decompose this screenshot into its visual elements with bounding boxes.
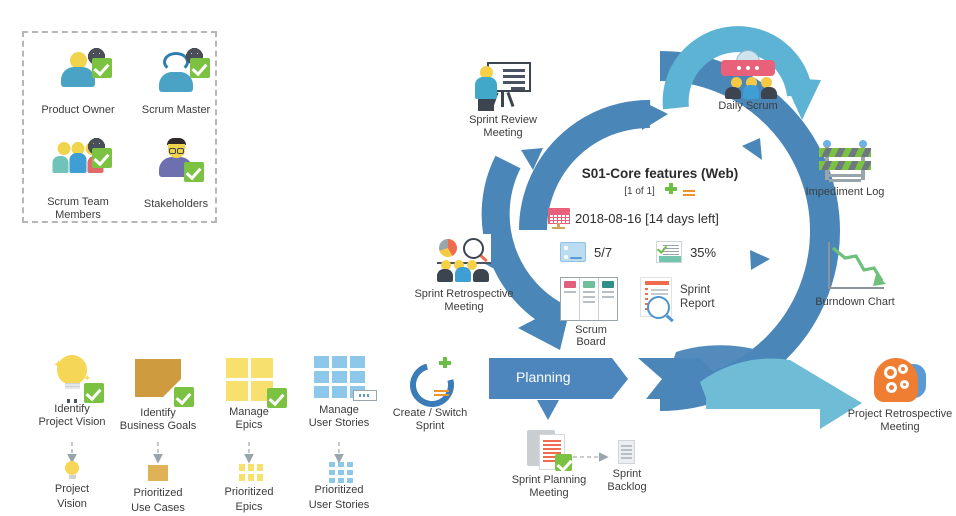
project-retrospective-icon [872,358,928,406]
impediment-log-label: Impediment Log [790,186,900,199]
toolbar-output-line1: Prioritized [287,484,391,497]
toolbar-output-line1: Prioritized [197,486,301,499]
sprint-backlog[interactable]: Sprint Backlog [592,440,662,494]
impediment-log-icon [817,140,873,184]
sprint-date: 2018-08-16 [14 days left] [575,211,719,226]
sprint-retrospective-meeting[interactable]: Sprint Retrospective Meeting [399,234,529,314]
sprint-planning-label-line2: Meeting [493,487,605,500]
sprint-report-label-line1: Sprint [680,283,715,297]
project-retrospective-label-line2: Meeting [845,421,955,434]
toolbar-output-line2: Epics [197,501,301,514]
toolbar-label-line1: Manage [287,404,391,417]
sprint-count: [1 of 1] [624,186,655,197]
burndown-chart[interactable]: Burndown Chart [800,288,910,309]
sprint-date-row: 2018-08-16 [14 days left] [548,208,760,229]
daily-scrum-icon [719,50,777,98]
sprint-progress-metric[interactable]: 35% [656,241,716,263]
sprint-backlog-label-line2: Backlog [592,481,662,494]
sprint-cards-metric[interactable]: 5/7 [560,242,612,262]
small-note-icon [106,465,210,485]
sprint-review-label-line1: Sprint Review [448,114,558,127]
sprint-report-icon [640,277,672,317]
calendar-icon [548,208,570,229]
switch-sprint-icon[interactable] [683,190,696,199]
project-retrospective-label-line1: Project Retrospective [845,408,955,421]
stories-badge-icon [353,390,377,401]
sprint-backlog-icon [616,440,638,466]
project-retrospective-meeting[interactable]: Project Retrospective Meeting [845,358,955,434]
planning-down-arrow [537,400,559,420]
sprint-planning-icon [527,428,571,472]
toolbar-item-identify-business-goals[interactable]: Identify Business Goals Prioritized Use … [106,355,210,515]
toolbar-label-line2: Business Goals [106,420,210,433]
toolbar-output-line2: Use Cases [106,502,210,515]
sprint-backlog-label-line1: Sprint [592,468,662,481]
check-icon [267,388,287,408]
daily-scrum-label: Daily Scrum [700,100,796,113]
sprint-planning-meeting[interactable]: Sprint Planning Meeting [493,428,605,500]
burndown-chart-label: Burndown Chart [800,296,910,309]
sprint-title: S01-Core features (Web) [560,166,760,181]
check-icon [84,383,104,403]
toolbar-label-line1: Create / Switch [378,407,482,420]
sprint-retrospective-label-line2: Meeting [399,301,529,314]
sprint-retrospective-icon [433,234,495,284]
check-icon [555,454,572,471]
small-stories-icon [287,462,391,482]
toolbar-label-line2: Sprint [378,420,482,433]
scrum-board-label: Scrum Board [560,324,622,348]
toolbar-item-manage-user-stories[interactable]: Manage User Stories Prioritized User Sto… [287,355,391,512]
sprint-review-label-line2: Meeting [448,127,558,140]
scrum-board-icon [560,277,618,321]
project-retrospective-arrow [700,359,862,429]
sprint-summary-card[interactable]: S01-Core features (Web) [1 of 1] 2018-08… [560,166,760,348]
sprint-cards-icon [560,242,586,262]
toolbar-output-line2: User Stories [287,499,391,512]
progress-report-icon [656,241,682,263]
user-stories-grid-icon [287,356,391,404]
sprint-report-label-line2: Report [680,297,715,311]
sprint-retrospective-label-line1: Sprint Retrospective [399,288,529,301]
toolbar-output-line1: Prioritized [106,487,210,500]
sprint-cards-value: 5/7 [594,245,612,260]
impediment-log[interactable]: Impediment Log [790,140,900,199]
sprint-review-meeting[interactable]: Sprint Review Meeting [448,60,558,140]
check-icon [174,387,194,407]
planning-bar-label: Planning [516,369,571,385]
scrum-board-item[interactable]: Scrum Board [560,277,622,348]
small-epics-icon [197,464,301,484]
toolbar-label-line2: User Stories [287,417,391,430]
sprint-planning-label-line1: Sprint Planning [493,474,605,487]
sprint-progress-value: 35% [690,245,716,260]
sticky-note-icon [106,359,210,407]
daily-scrum[interactable]: Daily Scrum [700,50,796,113]
toolbar-label-line2: Epics [197,419,301,432]
toolbar-item-manage-epics[interactable]: Manage Epics Prioritized Epics [197,355,301,514]
toolbar-item-create-switch-sprint[interactable]: Create / Switch Sprint [378,355,482,433]
create-switch-sprint-icon [378,359,482,407]
toolbar-label-line1: Identify [106,407,210,420]
epics-grid-icon [197,358,301,406]
add-sprint-icon[interactable] [664,183,678,199]
sprint-review-icon [473,60,533,112]
sprint-report-item[interactable]: Sprint Report [640,277,715,317]
